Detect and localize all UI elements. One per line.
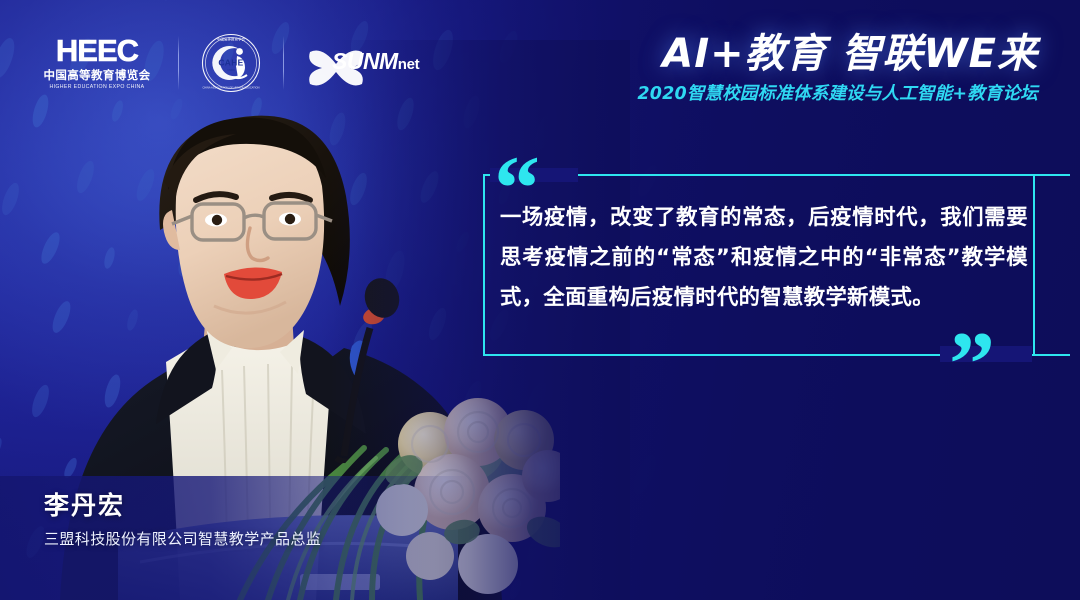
event-subtitle: 2020智慧校园标准体系建设与人工智能+教育论坛 <box>637 83 1038 105</box>
speaker-nameplate: 李丹宏 三盟科技股份有限公司智慧教学产品总监 <box>0 476 468 600</box>
quote-text: 一场疫情，改变了教育的常态，后疫情时代，我们需要思考疫情之前的“常态”和疫情之中… <box>500 198 1028 318</box>
logo-divider-1 <box>178 36 179 90</box>
svg-text:中国高等教育学会: 中国高等教育学会 <box>217 37 245 42</box>
sunm-text: SUNM <box>332 48 398 74</box>
logo-group: HEEC 中国高等教育博览会 HIGHER EDUCATION EXPO CHI… <box>38 30 414 96</box>
heec-english-name: HIGHER EDUCATION EXPO CHINA <box>37 83 157 91</box>
logo-divider-2 <box>283 36 284 90</box>
speaker-name: 李丹宏 <box>44 490 125 522</box>
svg-text:1983: 1983 <box>227 68 235 72</box>
sunmnet-wordmark: SUNMnet <box>332 50 419 76</box>
heec-logo: HEEC 中国高等教育博览会 HIGHER EDUCATION EXPO CHI… <box>38 36 156 91</box>
headline-group: AI+教育 智联WE来 2020智慧校园标准体系建设与人工智能+教育论坛 <box>637 30 1038 105</box>
quote-border-right <box>1033 174 1035 356</box>
quote-close-mark: ” <box>949 318 993 410</box>
svg-text:CHINA ASSOCIATION OF HIGHER ED: CHINA ASSOCIATION OF HIGHER EDUCATION <box>203 86 260 90</box>
heec-wordmark: HEEC <box>38 36 156 66</box>
net-text: net <box>398 56 420 73</box>
quote-block: “ 一场疫情，改变了教育的常态，后疫情时代，我们需要思考疫情之前的“常态”和疫情… <box>470 140 1070 390</box>
banner-slide: HEEC 中国高等教育博览会 HIGHER EDUCATION EXPO CHI… <box>0 0 1080 600</box>
cahe-logo: CAHE 1983 中国高等教育学会 CHINA ASSOCIATION OF … <box>201 33 261 93</box>
banner-header: HEEC 中国高等教育博览会 HIGHER EDUCATION EXPO CHI… <box>0 0 1080 128</box>
quote-border-left <box>483 174 485 356</box>
sunmnet-logo: SUNMnet <box>306 40 414 86</box>
heec-chinese-name: 中国高等教育博览会 <box>38 68 156 82</box>
event-title: AI+教育 智联WE来 <box>637 30 1038 78</box>
speaker-role: 三盟科技股份有限公司智慧教学产品总监 <box>44 528 321 550</box>
svg-text:CAHE: CAHE <box>218 58 243 68</box>
quote-open-mark: “ <box>494 142 538 234</box>
